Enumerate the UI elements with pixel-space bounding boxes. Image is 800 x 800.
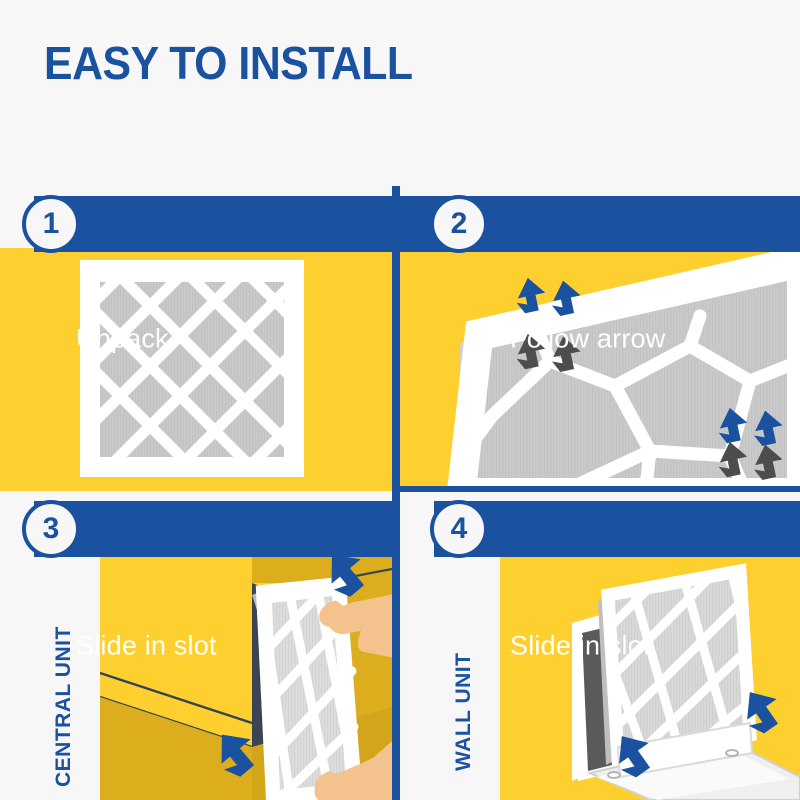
step-panel-3: Slide in slot 3 CENTRAL UNIT bbox=[0, 491, 392, 800]
divider-horizontal-right bbox=[400, 486, 800, 492]
step-3-side-label: CENTRAL UNIT bbox=[52, 626, 76, 787]
step-1-number-badge: 1 bbox=[22, 195, 80, 253]
page-title: EASY TO INSTALL bbox=[44, 36, 413, 90]
step-1-header-bar bbox=[34, 196, 392, 252]
step-4-header-bar bbox=[434, 501, 800, 557]
divider-vertical-center bbox=[392, 186, 400, 800]
step-4-number-badge: 4 bbox=[430, 500, 488, 558]
step-4-label: Slide in slot bbox=[510, 630, 651, 661]
step-1-label: Unpack bbox=[76, 323, 169, 354]
step-panel-4: Slide in slot 4 WALL UNIT bbox=[400, 491, 800, 800]
step-4-side-label: WALL UNIT bbox=[452, 653, 476, 771]
infographic-root: EASY TO INSTALL bbox=[0, 0, 800, 800]
step-2-number-badge: 2 bbox=[430, 195, 488, 253]
step-3-label: Slide in slot bbox=[76, 630, 217, 661]
step-panel-2: Follow arrow 2 bbox=[400, 186, 800, 491]
step-3-number-badge: 3 bbox=[22, 500, 80, 558]
step-panel-1: Unpack 1 bbox=[0, 186, 392, 491]
step-2-label: Follow arrow bbox=[510, 323, 665, 354]
step-3-header-bar bbox=[34, 501, 392, 557]
